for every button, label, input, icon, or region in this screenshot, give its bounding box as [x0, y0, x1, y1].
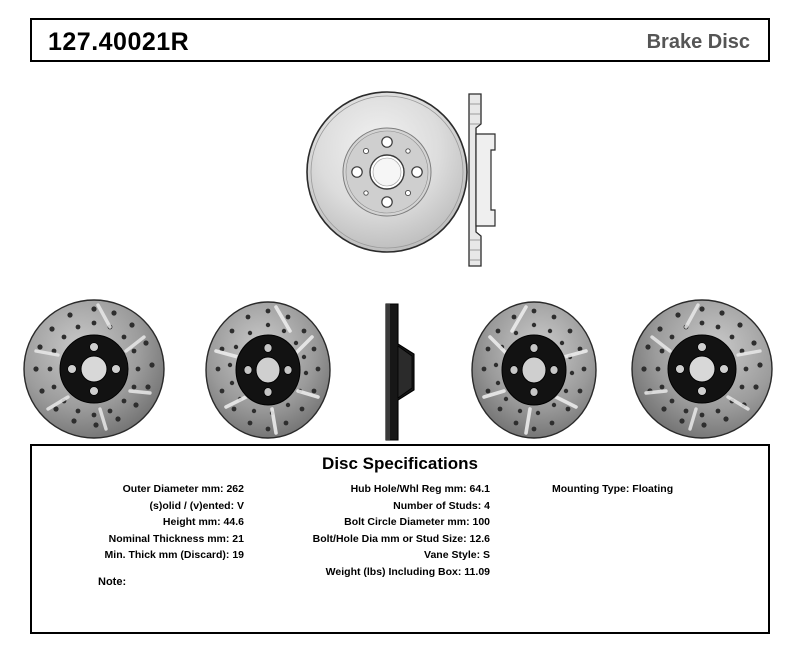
spec-item: Weight (lbs) Including Box: 11.09 [250, 564, 490, 581]
spec-item: Bolt/Hole Dia mm or Stud Size: 12.6 [250, 531, 490, 548]
note-label: Note: [98, 576, 126, 588]
disc-specifications-box: Disc Specifications Outer Diameter mm: 2… [30, 444, 770, 634]
drilled-slotted-rotor-angled-right [622, 297, 782, 442]
spec-item: Vane Style: S [250, 547, 490, 564]
drawing-area [0, 62, 800, 442]
drilled-slotted-rotor-angled-right-inner [458, 299, 610, 442]
spec-item: Hub Hole/Whl Reg mm: 64.1 [250, 481, 490, 498]
rotor-cross-section-profile [368, 302, 428, 442]
brake-disc-spec-sheet: 127.40021R Brake Disc [0, 0, 800, 655]
page-title: Brake Disc [647, 31, 750, 54]
rotor-edge-top-view [455, 90, 505, 270]
spec-item: Outer Diameter mm: 262 [32, 481, 244, 498]
spec-section-title: Disc Specifications [32, 454, 768, 474]
spec-column-right: Mounting Type: Floating [552, 481, 768, 498]
spec-item: Min. Thick mm (Discard): 19 [32, 547, 244, 564]
spec-item: Height mm: 44.6 [32, 514, 244, 531]
note-row: Note: [98, 576, 133, 588]
spec-item: (s)olid / (v)ented: V [32, 498, 244, 515]
spec-item: Mounting Type: Floating [552, 481, 768, 498]
drilled-slotted-rotor-angled-left-inner [192, 299, 344, 442]
spec-item: Number of Studs: 4 [250, 498, 490, 515]
rotor-face-top-view [300, 82, 475, 262]
header-bar: 127.40021R Brake Disc [30, 18, 770, 62]
spec-column-left: Outer Diameter mm: 262 (s)olid / (v)ente… [32, 481, 244, 564]
spec-item: Nominal Thickness mm: 21 [32, 531, 244, 548]
spec-column-middle: Hub Hole/Whl Reg mm: 64.1 Number of Stud… [250, 481, 490, 580]
drilled-slotted-rotor-angled-left [14, 297, 174, 442]
spec-item: Bolt Circle Diameter mm: 100 [250, 514, 490, 531]
part-number: 127.40021R [48, 28, 189, 57]
